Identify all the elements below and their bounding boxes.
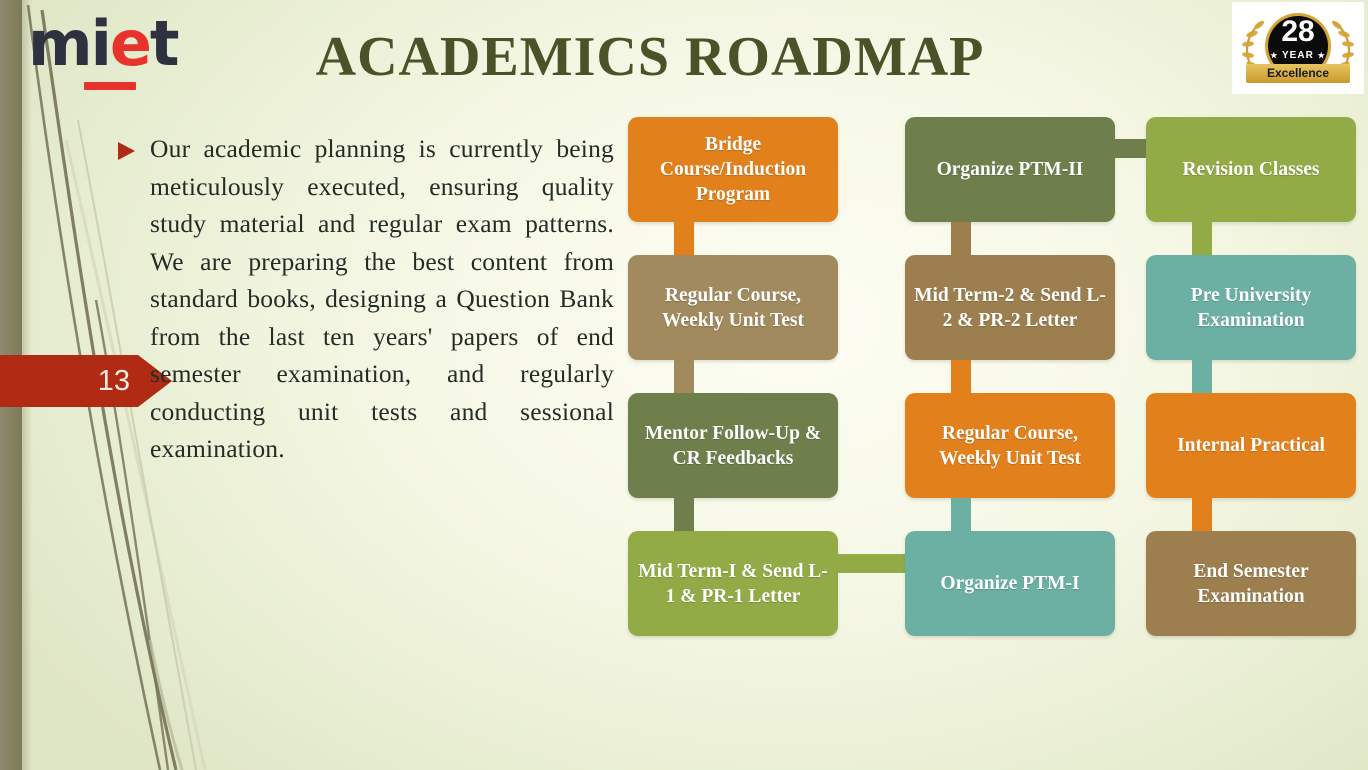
badge-ribbon-label: Excellence <box>1246 66 1350 81</box>
badge-star-left-icon: ★ <box>1270 51 1278 60</box>
badge-star-right-icon: ★ <box>1318 51 1326 60</box>
flow-node-internal-practical[interactable]: Internal Practical <box>1146 393 1356 498</box>
page-title: ACADEMICS ROADMAP <box>260 25 1040 89</box>
flow-node-bridge-course[interactable]: Bridge Course/Induction Program <box>628 117 838 222</box>
logo-mi: mi <box>28 7 110 80</box>
connector-c3-r0-r1 <box>1192 222 1212 256</box>
connector-midterm1-to-ptm1 <box>838 554 906 573</box>
flow-node-organize-ptm-2[interactable]: Organize PTM-II <box>905 117 1115 222</box>
miet-logo-text: miet <box>28 8 178 80</box>
flow-node-pre-university-exam[interactable]: Pre University Examination <box>1146 255 1356 360</box>
badge-year-label: YEAR <box>1282 50 1314 61</box>
connector-c3-r2-r3 <box>1192 498 1212 532</box>
flow-node-mid-term-1[interactable]: Mid Term-I & Send L-1 & PR-1 Letter <box>628 531 838 636</box>
logo-e: e <box>110 7 150 80</box>
connector-c2-r2-r3 <box>951 498 971 532</box>
miet-logo: miet <box>28 8 178 90</box>
connector-c1-r0-r1 <box>674 222 694 256</box>
badge-number: 28 <box>1232 17 1364 47</box>
logo-underline <box>84 82 136 90</box>
connector-c1-r2-r3 <box>674 498 694 532</box>
logo-t: t <box>150 7 178 80</box>
connector-c2-r1-r2 <box>951 360 971 394</box>
flow-node-regular-course-1[interactable]: Regular Course, Weekly Unit Test <box>628 255 838 360</box>
body-text-block: Our academic planning is currently being… <box>108 130 614 468</box>
connector-c3-r1-r2 <box>1192 360 1212 394</box>
flow-node-mentor-followup[interactable]: Mentor Follow-Up & CR Feedbacks <box>628 393 838 498</box>
flow-node-mid-term-2[interactable]: Mid Term-2 & Send L-2 & PR-2 Letter <box>905 255 1115 360</box>
body-paragraph: Our academic planning is currently being… <box>150 130 614 468</box>
flow-node-end-semester-exam[interactable]: End Semester Examination <box>1146 531 1356 636</box>
flow-node-organize-ptm-1[interactable]: Organize PTM-I <box>905 531 1115 636</box>
flow-node-regular-course-2[interactable]: Regular Course, Weekly Unit Test <box>905 393 1115 498</box>
academics-roadmap-flowchart: Bridge Course/Induction Program Regular … <box>628 117 1340 639</box>
arrow-bullet-icon <box>118 142 135 160</box>
anniversary-badge: 28 ★ YEAR ★ Excellence <box>1232 2 1364 94</box>
connector-c1-r1-r2 <box>674 360 694 394</box>
flow-node-revision-classes[interactable]: Revision Classes <box>1146 117 1356 222</box>
connector-c2-r0-r1 <box>951 222 971 256</box>
